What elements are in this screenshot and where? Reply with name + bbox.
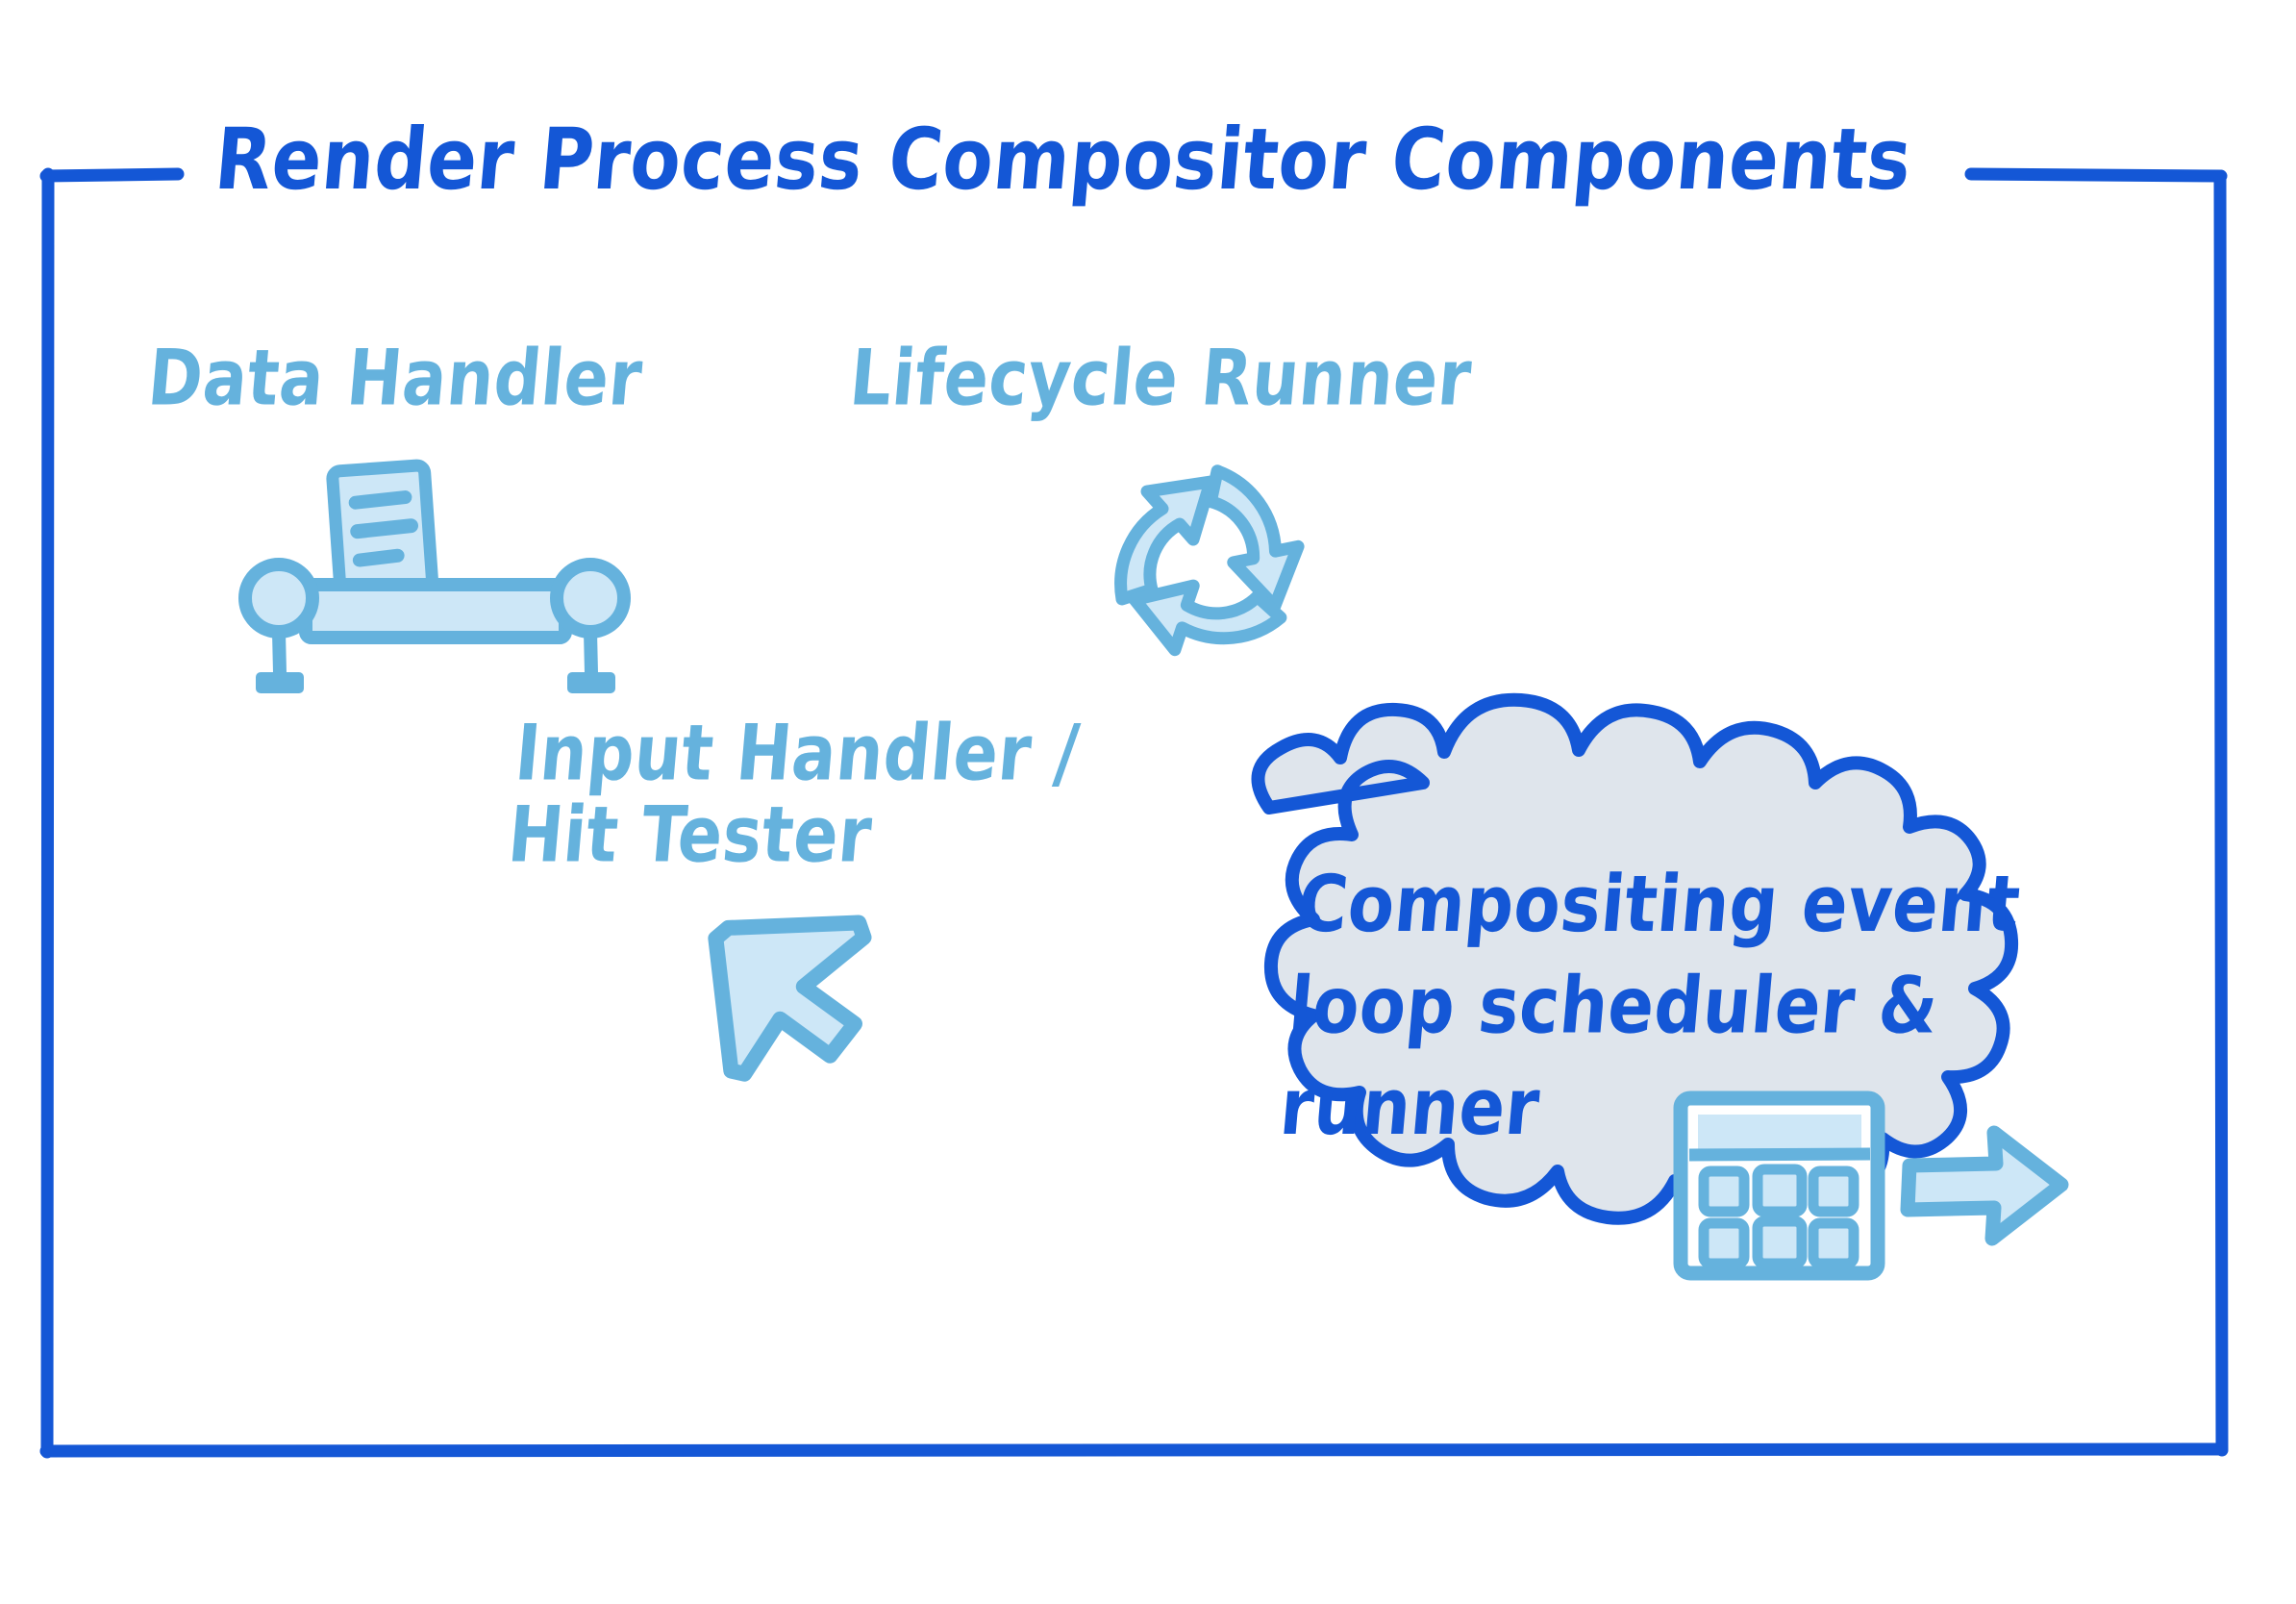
input-handler-line-2: Hit Tester <box>505 790 876 880</box>
page-title: Render Process Compositor Components <box>212 117 1914 202</box>
diagram-canvas: Render Process Compositor Components Dat… <box>0 0 2296 1604</box>
component-label-data-handler: Data Handler <box>145 338 646 420</box>
component-label-lifecycle-runner: Lifecycle Runner <box>847 338 1475 420</box>
data-bench-icon <box>245 465 624 693</box>
cursor-pointer-icon <box>702 901 886 1077</box>
cloud-label-compositing-event-loop: Compositing eventloop scheduler &runner <box>1276 854 2024 1159</box>
cloud-line-2: loop scheduler & <box>1285 960 1942 1051</box>
diagram-icons-layer <box>0 0 2296 1604</box>
component-label-input-handler-hit-tester: Input Handler /Hit Tester <box>505 714 1083 877</box>
cloud-line-1: Compositing event <box>1294 859 2024 950</box>
cloud-line-3: runner <box>1277 1062 1543 1153</box>
input-handler-line-1: Input Handler / <box>512 709 1083 798</box>
recycle-cycle-icon <box>1121 470 1320 678</box>
